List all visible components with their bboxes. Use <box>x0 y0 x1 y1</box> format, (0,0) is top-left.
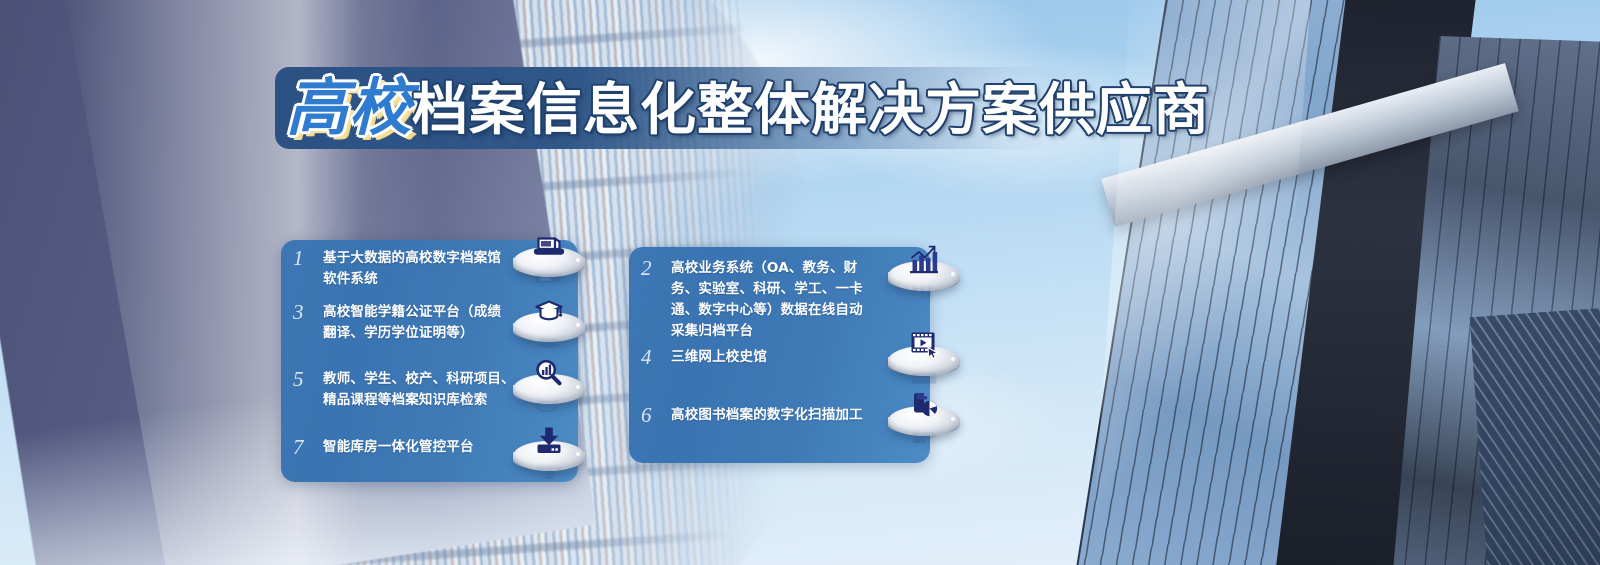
banner-root: 高校档案信息化整体解决方案供应商 1 基于大数据的高校数字档案馆软件系统 3 高… <box>0 0 1600 565</box>
list-item-label: 智能库房一体化管控平台 <box>323 437 474 458</box>
video-play-cursor-icon <box>888 330 960 386</box>
list-item-number: 3 <box>293 302 323 322</box>
bar-chart-trend-icon <box>888 245 960 301</box>
list-item[interactable]: 4 三维网上校史馆 <box>641 347 863 368</box>
list-item[interactable]: 5 教师、学生、校产、科研项目、精品课程等档案知识库检索 <box>293 369 515 411</box>
list-item-label: 高校图书档案的数字化扫描加工 <box>671 405 863 426</box>
list-item[interactable]: 2 高校业务系统（OA、教务、财务、实验室、科研、学工、一卡通、数字中心等）数据… <box>641 258 863 342</box>
list-item-label: 高校业务系统（OA、教务、财务、实验室、科研、学工、一卡通、数字中心等）数据在线… <box>671 258 863 342</box>
glass-facade-lower <box>1470 303 1600 565</box>
download-archive-icon <box>513 425 585 481</box>
list-item-number: 4 <box>641 347 671 367</box>
title-highlight: 高校 <box>286 71 412 144</box>
title-rest: 档案信息化整体解决方案供应商 <box>412 78 1210 143</box>
list-item-number: 2 <box>641 258 671 278</box>
laptop-scanner-icon <box>513 231 585 287</box>
list-item[interactable]: 1 基于大数据的高校数字档案馆软件系统 <box>293 248 508 290</box>
list-item-number: 6 <box>641 405 671 425</box>
search-chart-icon <box>513 358 585 414</box>
list-item-label: 基于大数据的高校数字档案馆软件系统 <box>323 248 508 290</box>
list-item-label: 三维网上校史馆 <box>671 347 767 368</box>
list-item[interactable]: 3 高校智能学籍公证平台（成绩翻译、学历学位证明等） <box>293 302 508 344</box>
page-title: 高校档案信息化整体解决方案供应商 <box>286 72 1186 144</box>
list-item-label: 教师、学生、校产、科研项目、精品课程等档案知识库检索 <box>323 369 515 411</box>
list-item-number: 1 <box>293 248 323 268</box>
list-item-number: 7 <box>293 437 323 457</box>
book-scan-icon <box>888 390 960 446</box>
list-item-label: 高校智能学籍公证平台（成绩翻译、学历学位证明等） <box>323 302 508 344</box>
graduation-cap-icon <box>513 296 585 352</box>
list-item[interactable]: 6 高校图书档案的数字化扫描加工 <box>641 405 863 426</box>
list-item-number: 5 <box>293 369 323 389</box>
list-item[interactable]: 7 智能库房一体化管控平台 <box>293 437 515 458</box>
